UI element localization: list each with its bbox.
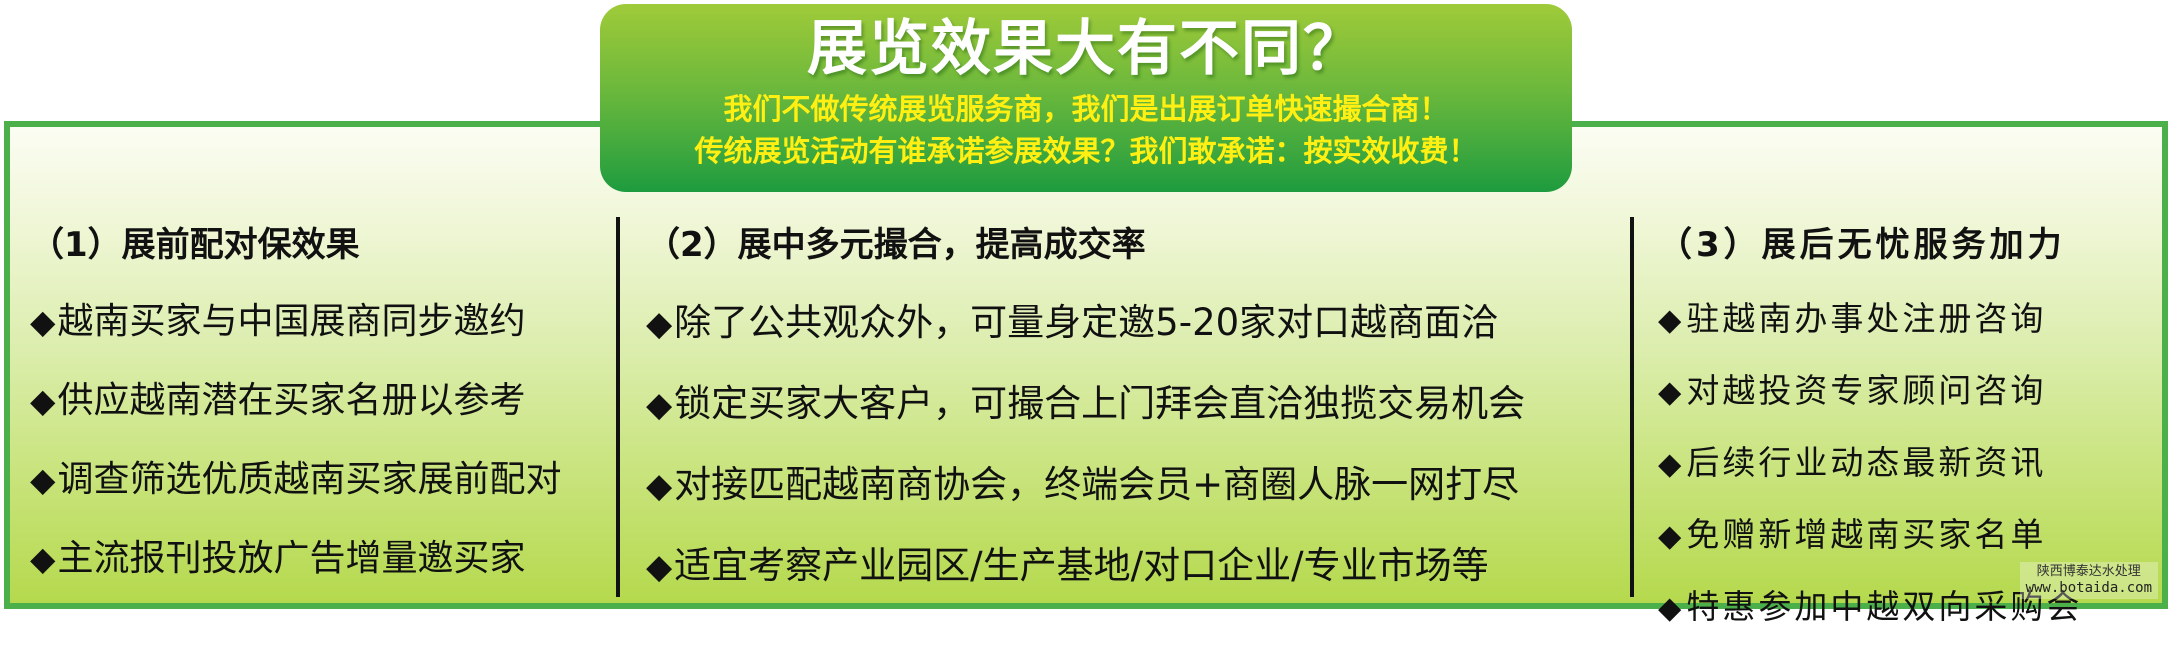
column-3: （3）展后无忧服务加力 ◆ 驻越南办事处注册咨询 ◆ 对越投资专家顾问咨询 ◆ … bbox=[1628, 121, 2168, 609]
diamond-bullet-icon: ◆ bbox=[646, 547, 672, 587]
column-1: （1）展前配对保效果 ◆ 越南买家与中国展商同步邀约 ◆ 供应越南潜在买家名册以… bbox=[4, 121, 618, 609]
list-item: ◆ 除了公共观众外，可量身定邀5-20家对口越商面洽 bbox=[646, 292, 1628, 346]
column-3-heading: （3）展后无忧服务加力 bbox=[1658, 217, 2168, 266]
diamond-bullet-icon: ◆ bbox=[30, 539, 55, 578]
diamond-bullet-icon: ◆ bbox=[1658, 519, 1684, 554]
list-item: ◆ 供应越南潜在买家名册以参考 bbox=[30, 371, 618, 423]
column-1-items: ◆ 越南买家与中国展商同步邀约 ◆ 供应越南潜在买家名册以参考 ◆ 调查筛选优质… bbox=[30, 292, 618, 608]
list-item-label: 适宜考察产业园区/生产基地/对口企业/专业市场等 bbox=[674, 535, 1488, 589]
diamond-bullet-icon: ◆ bbox=[646, 304, 672, 344]
list-item: ◆ 后续行业动态最新资讯 bbox=[1658, 436, 2168, 484]
column-2-heading: （2）展中多元撮合，提高成交率 bbox=[646, 217, 1628, 266]
list-item: ◆ 对越投资专家顾问咨询 bbox=[1658, 364, 2168, 412]
list-item-label: 除了公共观众外，可量身定邀5-20家对口越商面洽 bbox=[674, 292, 1498, 346]
list-item: ◆ 免赠新增越南买家名单 bbox=[1658, 508, 2168, 556]
list-item-label: 供应越南潜在买家名册以参考 bbox=[57, 371, 525, 423]
list-item: ◆ 主流报刊投放广告增量邀买家 bbox=[30, 529, 618, 581]
diamond-bullet-icon: ◆ bbox=[30, 460, 55, 499]
list-item-label: 越南买家与中国展商同步邀约 bbox=[57, 292, 525, 344]
list-item-label: 锁定买家大客户，可撮合上门拜会直洽独揽交易机会 bbox=[674, 373, 1525, 427]
diamond-bullet-icon: ◆ bbox=[30, 381, 55, 420]
list-item-label: 主流报刊投放广告增量邀买家 bbox=[57, 529, 525, 581]
list-item-label: 驻越南办事处注册咨询 bbox=[1686, 292, 2046, 340]
diamond-bullet-icon: ◆ bbox=[646, 385, 672, 425]
watermark-company: 陕西博泰达水处理 bbox=[2026, 565, 2152, 580]
diamond-bullet-icon: ◆ bbox=[1658, 447, 1684, 482]
column-2: （2）展中多元撮合，提高成交率 ◆ 除了公共观众外，可量身定邀5-20家对口越商… bbox=[618, 121, 1628, 609]
list-item-label: 对接匹配越南商协会，终端会员+商圈人脉一网打尽 bbox=[674, 454, 1519, 508]
list-item: ◆ 锁定买家大客户，可撮合上门拜会直洽独揽交易机会 bbox=[646, 373, 1628, 427]
diamond-bullet-icon: ◆ bbox=[646, 466, 672, 506]
list-item: ◆ 越南买家与中国展商同步邀约 bbox=[30, 292, 618, 344]
list-item: ◆ 调查筛选优质越南买家展前配对 bbox=[30, 450, 618, 502]
watermark-url: www.botaida.com bbox=[2026, 580, 2152, 596]
list-item-label: 调查筛选优质越南买家展前配对 bbox=[57, 450, 561, 502]
diamond-bullet-icon: ◆ bbox=[1658, 303, 1684, 338]
list-item: ◆ 驻越南办事处注册咨询 bbox=[1658, 292, 2168, 340]
list-item: ◆ 适宜考察产业园区/生产基地/对口企业/专业市场等 bbox=[646, 535, 1628, 589]
list-item-label: 对越投资专家顾问咨询 bbox=[1686, 364, 2046, 412]
watermark: 陕西博泰达水处理 www.botaida.com bbox=[2020, 562, 2158, 599]
poster-root: 展览效果大有不同？ 我们不做传统展览服务商，我们是出展订单快速撮合商！ 传统展览… bbox=[0, 0, 2172, 613]
column-1-heading: （1）展前配对保效果 bbox=[30, 217, 618, 266]
diamond-bullet-icon: ◆ bbox=[30, 302, 55, 341]
banner-title: 展览效果大有不同？ bbox=[600, 16, 1572, 83]
list-item-label: 免赠新增越南买家名单 bbox=[1686, 508, 2046, 556]
list-item: ◆ 对接匹配越南商协会，终端会员+商圈人脉一网打尽 bbox=[646, 454, 1628, 508]
column-2-items: ◆ 除了公共观众外，可量身定邀5-20家对口越商面洽 ◆ 锁定买家大客户，可撮合… bbox=[646, 292, 1628, 616]
columns-container: （1）展前配对保效果 ◆ 越南买家与中国展商同步邀约 ◆ 供应越南潜在买家名册以… bbox=[4, 121, 2168, 609]
list-item-label: 后续行业动态最新资讯 bbox=[1686, 436, 2046, 484]
diamond-bullet-icon: ◆ bbox=[1658, 375, 1684, 410]
diamond-bullet-icon: ◆ bbox=[1658, 591, 1684, 626]
